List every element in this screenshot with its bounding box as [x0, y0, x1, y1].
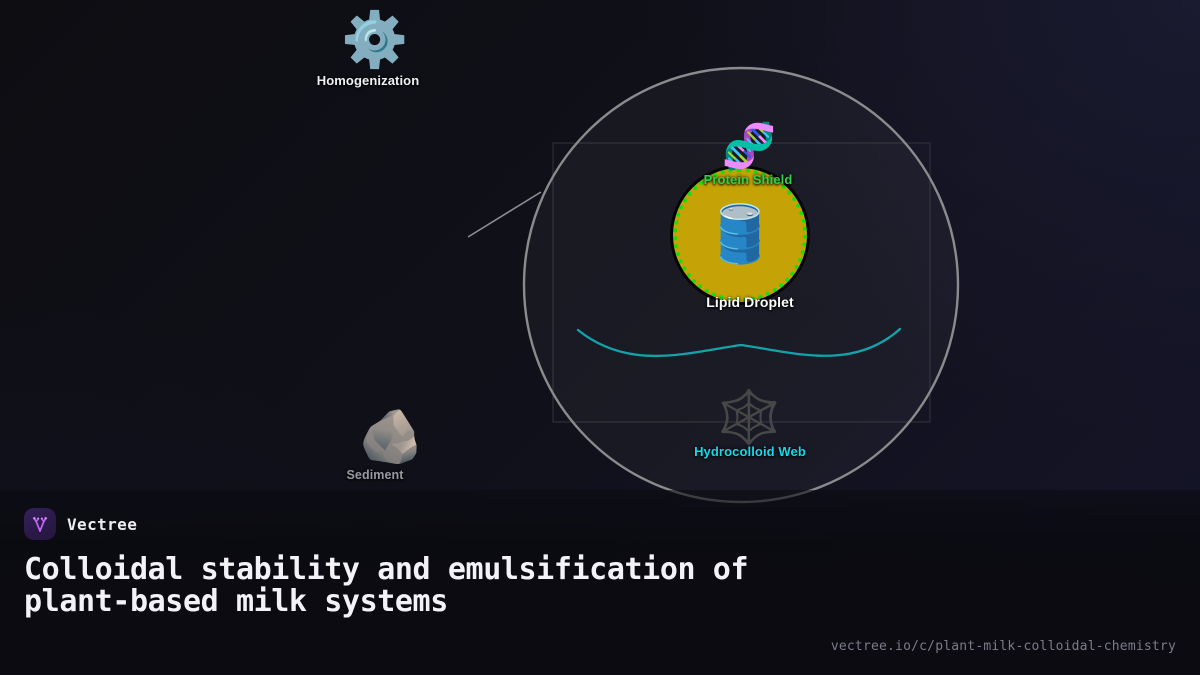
node-label-hydrocolloid-web: Hydrocolloid Web	[694, 444, 806, 459]
gear-icon: ⚙️	[341, 13, 408, 67]
rock-icon: 🪨	[359, 411, 424, 463]
dna-icon: 🧬	[722, 125, 777, 169]
oil-drum-icon: 🛢️	[705, 207, 775, 263]
page-title: Colloidal stability and emulsification o…	[24, 554, 814, 618]
brand-row: Vectree	[24, 508, 1176, 540]
node-label-lipid-droplet: Lipid Droplet	[706, 294, 794, 310]
spider-web-icon: 🕸️	[717, 392, 782, 444]
node-label-protein-shield: Protein Shield	[704, 172, 793, 187]
brand-name: Vectree	[67, 515, 137, 534]
card-footer: Vectree Colloidal stability and emulsifi…	[0, 490, 1200, 675]
node-label-sediment: Sediment	[346, 468, 403, 482]
permalink-url[interactable]: vectree.io/c/plant-milk-colloidal-chemis…	[831, 639, 1176, 654]
node-label-homogenization: Homogenization	[317, 73, 420, 88]
concept-card: ⚙️ 🧬 🛢️ 🕸️ 🪨 Homogenization Protein Shie…	[0, 0, 1200, 675]
vectree-v-tree-icon	[24, 508, 56, 540]
